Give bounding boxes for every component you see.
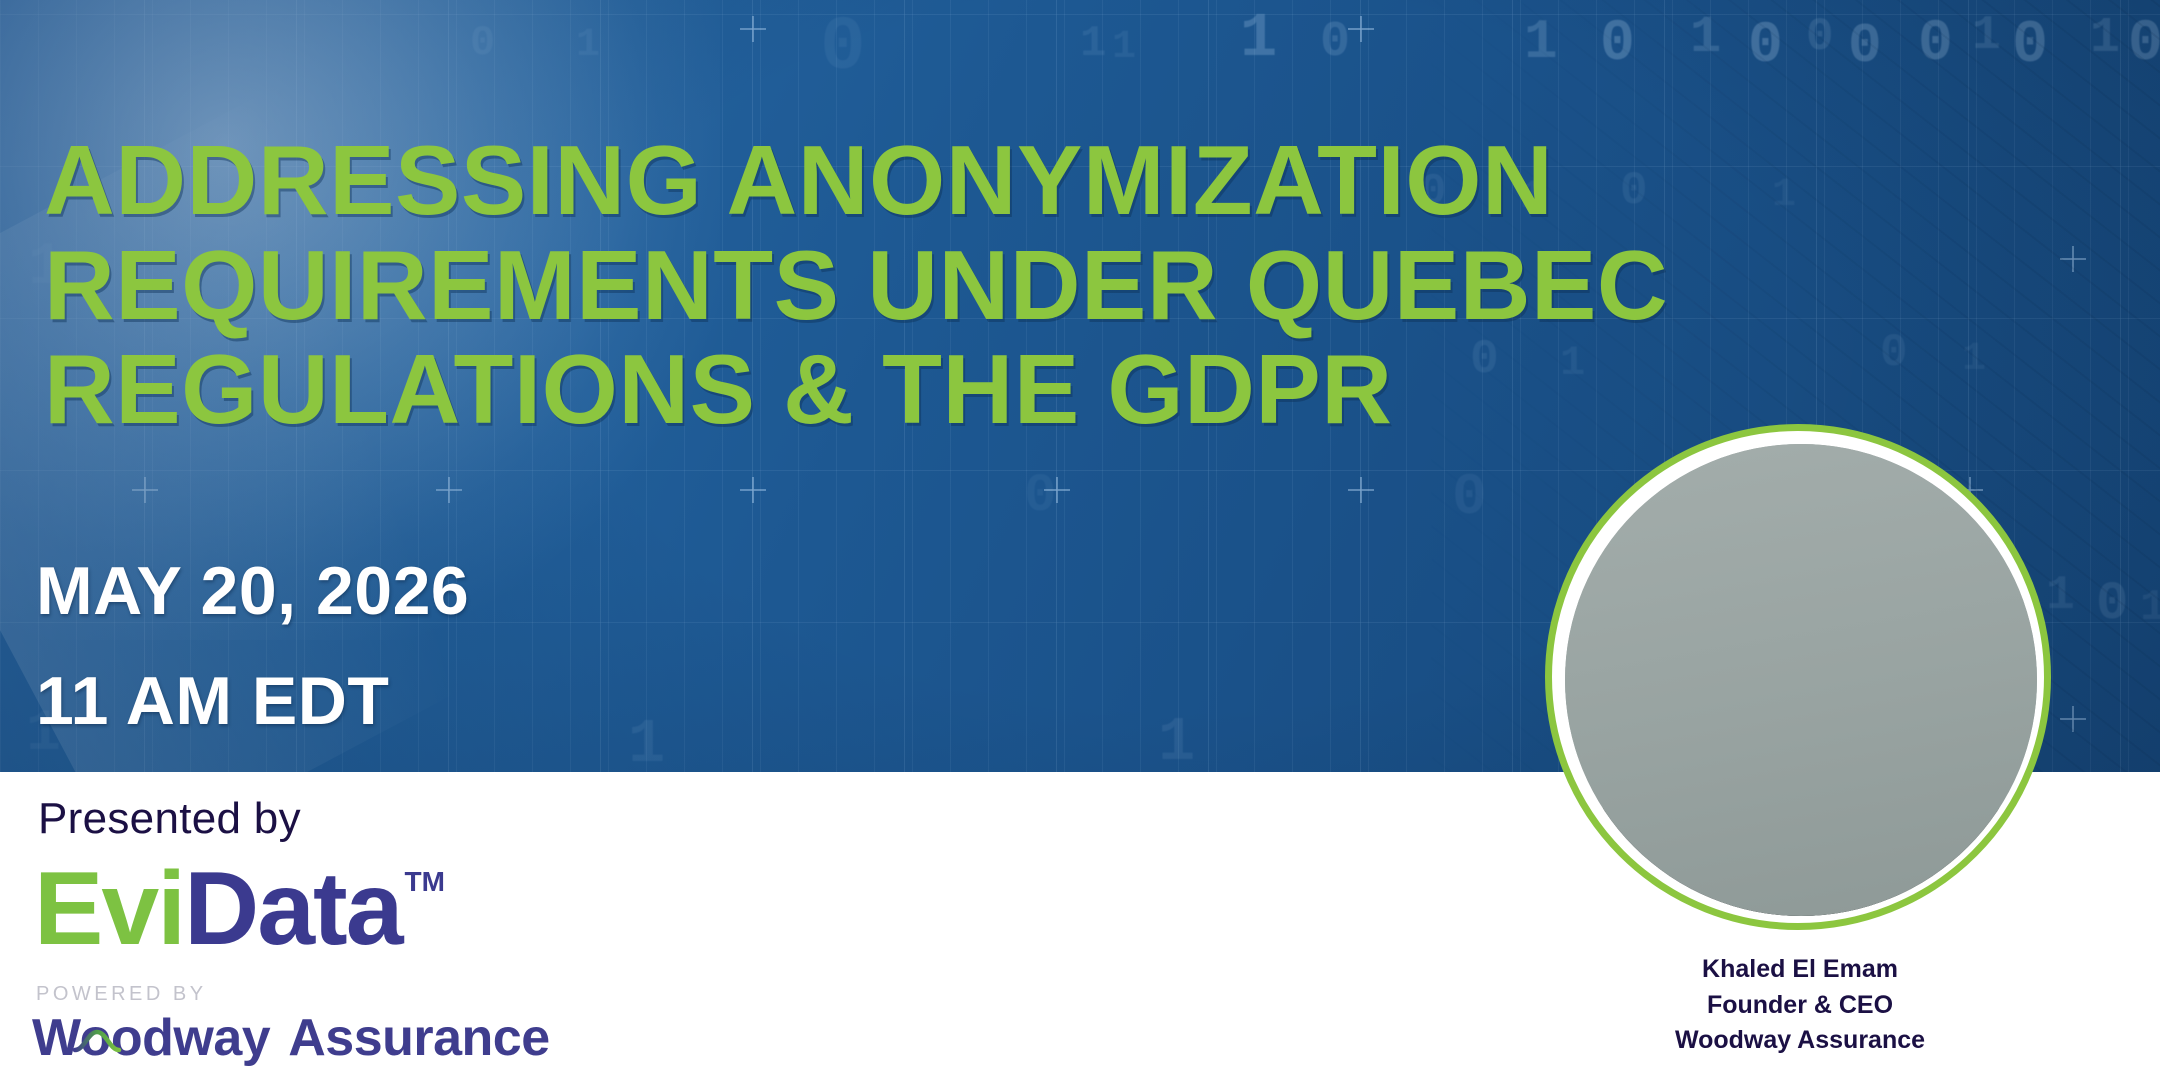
- trademark-symbol: TM: [405, 866, 445, 898]
- woodway-assurance-logo: Woodway Assurance: [32, 1008, 550, 1068]
- woodway-wordmark: Woodway: [32, 1008, 270, 1068]
- presented-by-label: Presented by: [38, 794, 301, 844]
- powered-by-label: POWERED BY: [36, 983, 207, 1006]
- speaker-photo: [1565, 444, 2037, 916]
- page-title: ADDRESSING ANONYMIZATION REQUIREMENTS UN…: [44, 128, 1464, 443]
- photo-background: [1565, 444, 2037, 916]
- title-line-3: REGULATIONS & THE GDPR: [44, 337, 1464, 442]
- event-time: 11 AM EDT: [36, 662, 389, 740]
- evidata-logo-data: Data: [184, 860, 401, 960]
- event-date: MAY 20, 2026: [36, 552, 469, 630]
- webinar-promo-banner: 1 0 1 0 1 0 0 0 0 1 0 1 0 0 1 0 1 1 0 1 …: [0, 0, 2160, 1080]
- speaker-company: Woodway Assurance: [1560, 1023, 2040, 1059]
- woodway-word: Woodway: [32, 1009, 270, 1067]
- assurance-word: Assurance: [288, 1008, 549, 1068]
- speaker-credentials: Khaled El Emam Founder & CEO Woodway Ass…: [1560, 952, 2040, 1059]
- evidata-logo: Evi Data TM: [34, 860, 445, 960]
- title-line-1: ADDRESSING ANONYMIZATION: [44, 128, 1464, 233]
- title-line-2: REQUIREMENTS UNDER QUEBEC: [44, 233, 1464, 338]
- evidata-logo-evi: Evi: [34, 860, 184, 960]
- speaker-role: Founder & CEO: [1560, 988, 2040, 1024]
- speaker-name: Khaled El Emam: [1560, 952, 2040, 988]
- speaker-portrait-ring: [1545, 424, 2051, 930]
